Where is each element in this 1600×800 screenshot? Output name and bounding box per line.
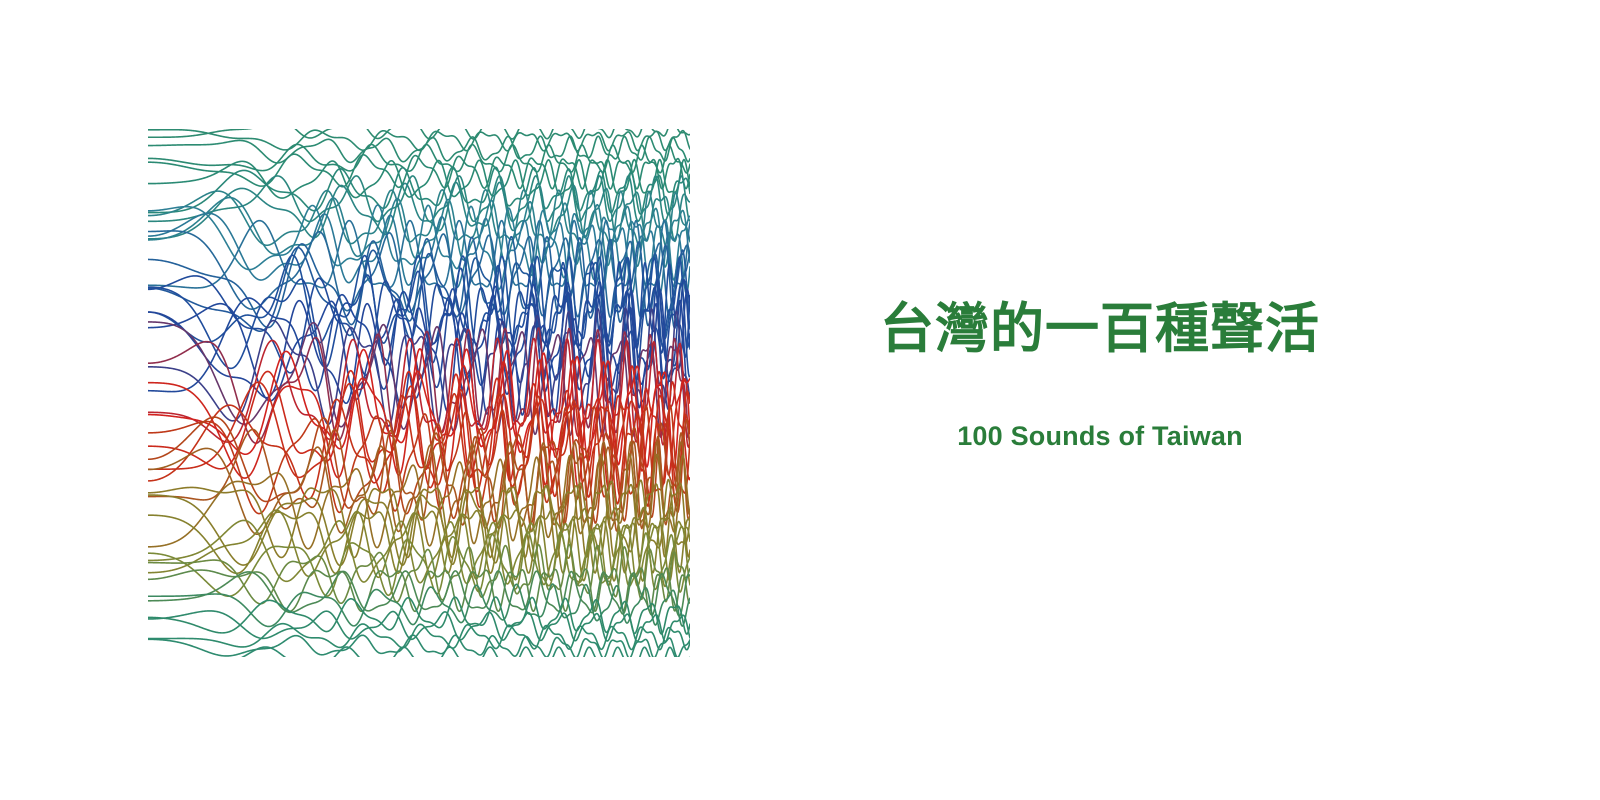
wave-line <box>148 301 690 415</box>
sound-wave-ridgeline-art <box>148 129 690 657</box>
page-title-chinese: 台灣的一百種聲活 <box>860 300 1340 359</box>
poster-canvas: 台灣的一百種聲活 100 Sounds of Taiwan <box>0 0 1600 800</box>
wave-line <box>148 154 690 189</box>
waveform-svg <box>148 129 690 657</box>
wave-line <box>148 130 690 151</box>
page-subtitle-english: 100 Sounds of Taiwan <box>860 421 1340 452</box>
title-group: 台灣的一百種聲活 100 Sounds of Taiwan <box>860 300 1340 452</box>
